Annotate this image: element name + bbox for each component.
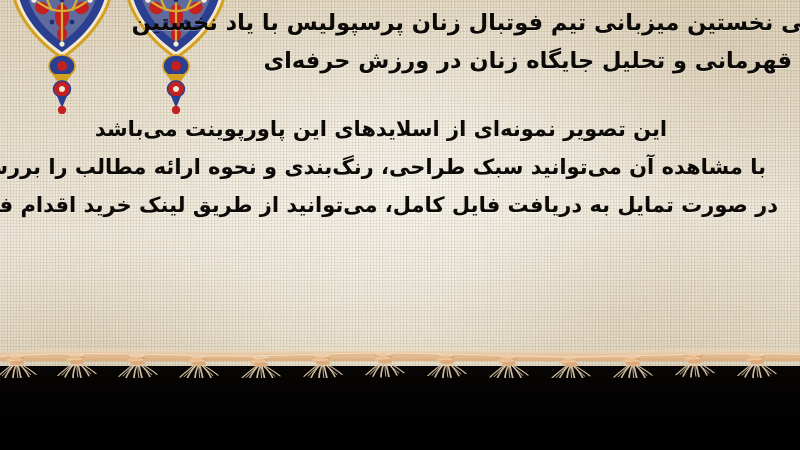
header-line-1: سی نخستین میزبانی تیم فوتبال زنان پرسپول…: [180, 4, 800, 42]
slide-body: این تصویر نمونه‌ای از اسلایدهای این پاور…: [14, 110, 782, 224]
slide-header: سی نخستین میزبانی تیم فوتبال زنان پرسپول…: [180, 4, 792, 80]
body-line-1: این تصویر نمونه‌ای از اسلایدهای این پاور…: [14, 110, 782, 148]
persian-presentation-slide: سی نخستین میزبانی تیم فوتبال زنان پرسپول…: [0, 0, 800, 450]
body-line-3: در صورت تمایل به دریافت فایل کامل، می‌تو…: [14, 186, 782, 224]
body-line-2: با مشاهده آن می‌توانید سبک طراحی، رنگ‌بن…: [14, 148, 782, 186]
fringe-black-field: [0, 366, 800, 450]
carpet-fringe-svg: [0, 332, 800, 378]
header-line-2: قهرمانی و تحلیل جایگاه زنان در ورزش حرفه…: [180, 42, 792, 80]
carpet-fringe-area: [0, 332, 800, 450]
